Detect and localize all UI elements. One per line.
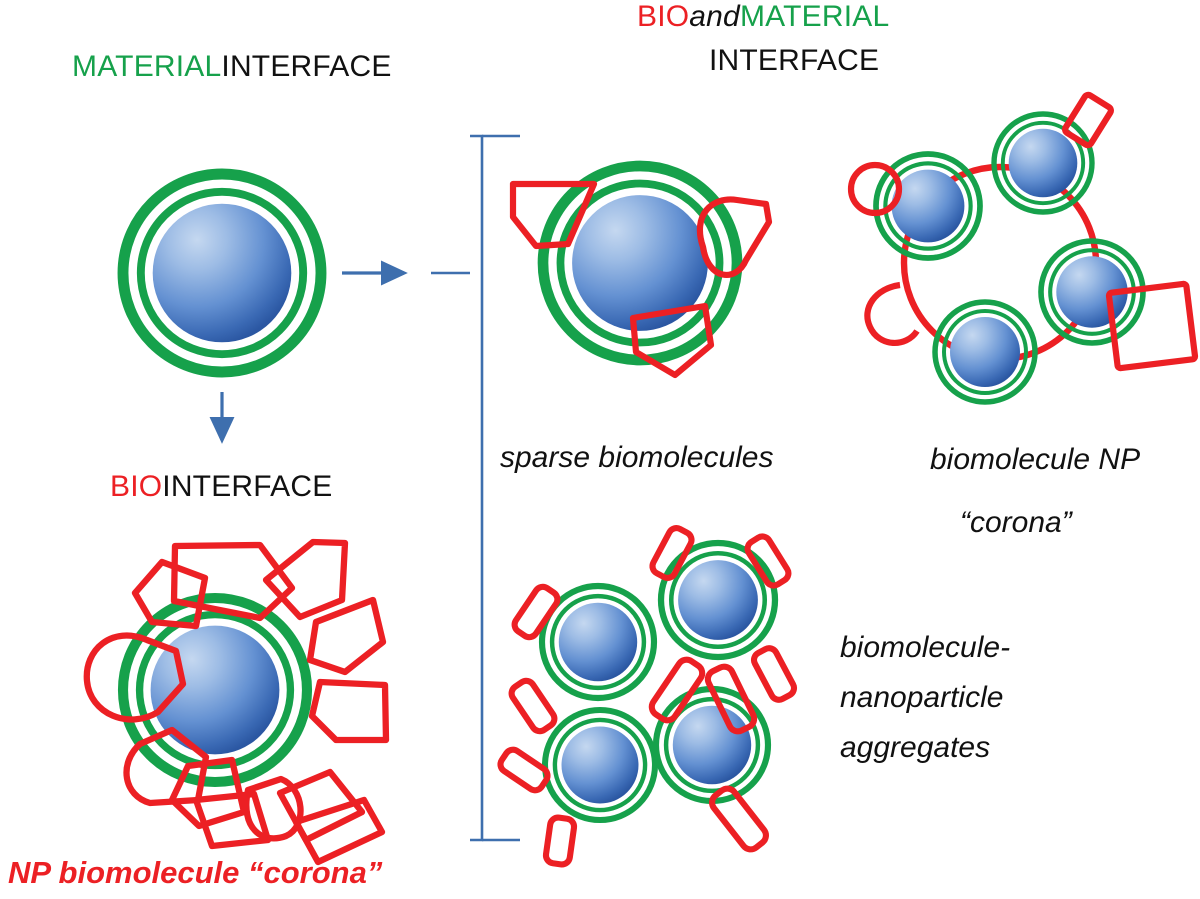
panel-sparse-biomolecule-nanoparticle bbox=[513, 166, 769, 375]
caption-aggregates-line3: aggregates bbox=[840, 731, 990, 765]
title-bio-and-material-interface-line2: INTERFACE bbox=[709, 44, 879, 78]
caption-biomolecule-np-corona-line1: biomolecule NP bbox=[930, 443, 1140, 477]
title-bio-and-material-part-material: MATERIAL bbox=[740, 0, 889, 33]
panel-biomolecule-np-corona bbox=[851, 93, 1195, 402]
title-bio-interface-part2: INTERFACE bbox=[162, 470, 332, 503]
title-bio-interface-part1: BIO bbox=[110, 470, 162, 503]
title-material-interface-part1: MATERIAL bbox=[72, 50, 221, 83]
title-material-interface: MATERIALINTERFACE bbox=[72, 50, 392, 84]
title-bio-and-material-interface-line1: BIOandMATERIAL bbox=[637, 0, 889, 34]
caption-aggregates-line2: nanoparticle bbox=[840, 681, 1003, 715]
title-bio-interface: BIOINTERFACE bbox=[110, 470, 332, 504]
caption-np-biomolecule-corona: NP biomolecule “corona” bbox=[8, 855, 382, 891]
panel-dense-corona-nanoparticle bbox=[87, 542, 386, 862]
caption-aggregates-line1: biomolecule- bbox=[840, 631, 1010, 665]
title-bio-and-material-part-bio: BIO bbox=[637, 0, 689, 33]
connector-bracket bbox=[431, 136, 520, 840]
panel-bare-nanoparticle bbox=[123, 174, 321, 372]
diagram-canvas: MATERIALINTERFACE BIOandMATERIAL INTERFA… bbox=[0, 0, 1200, 899]
title-material-interface-part2: INTERFACE bbox=[221, 50, 391, 83]
caption-biomolecule-np-corona-line2: “corona” bbox=[960, 506, 1072, 540]
panel-biomolecule-nanoparticle-aggregates bbox=[497, 525, 796, 865]
biomolecule-group bbox=[497, 525, 796, 865]
title-bio-and-material-part-and: and bbox=[689, 0, 740, 33]
caption-sparse-biomolecules: sparse biomolecules bbox=[500, 441, 773, 475]
